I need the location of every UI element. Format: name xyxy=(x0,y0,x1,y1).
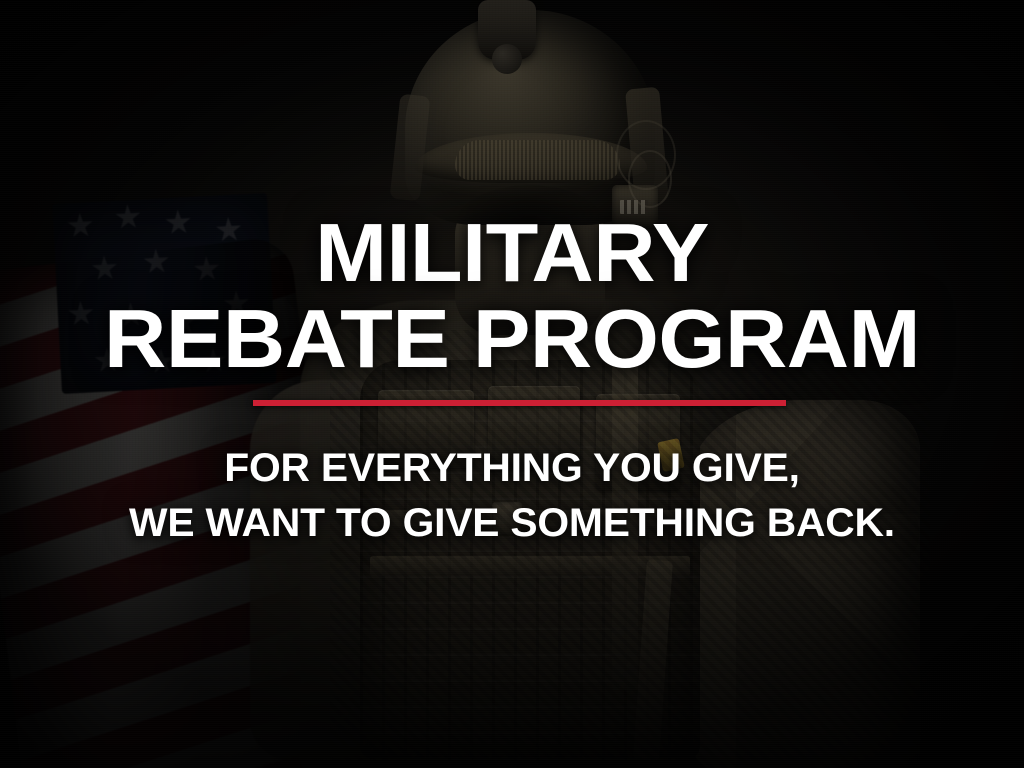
helmet-velcro-panel xyxy=(455,140,620,180)
background-photo xyxy=(0,0,1024,768)
camo-pattern-overlay xyxy=(330,330,930,768)
nvg-adjustment-knob xyxy=(492,44,522,74)
comms-cable xyxy=(628,150,672,208)
face-shadow xyxy=(455,185,605,265)
soldier-figure xyxy=(0,0,1024,768)
military-rebate-poster: MILITARY REBATE PROGRAM FOR EVERYTHING Y… xyxy=(0,0,1024,768)
